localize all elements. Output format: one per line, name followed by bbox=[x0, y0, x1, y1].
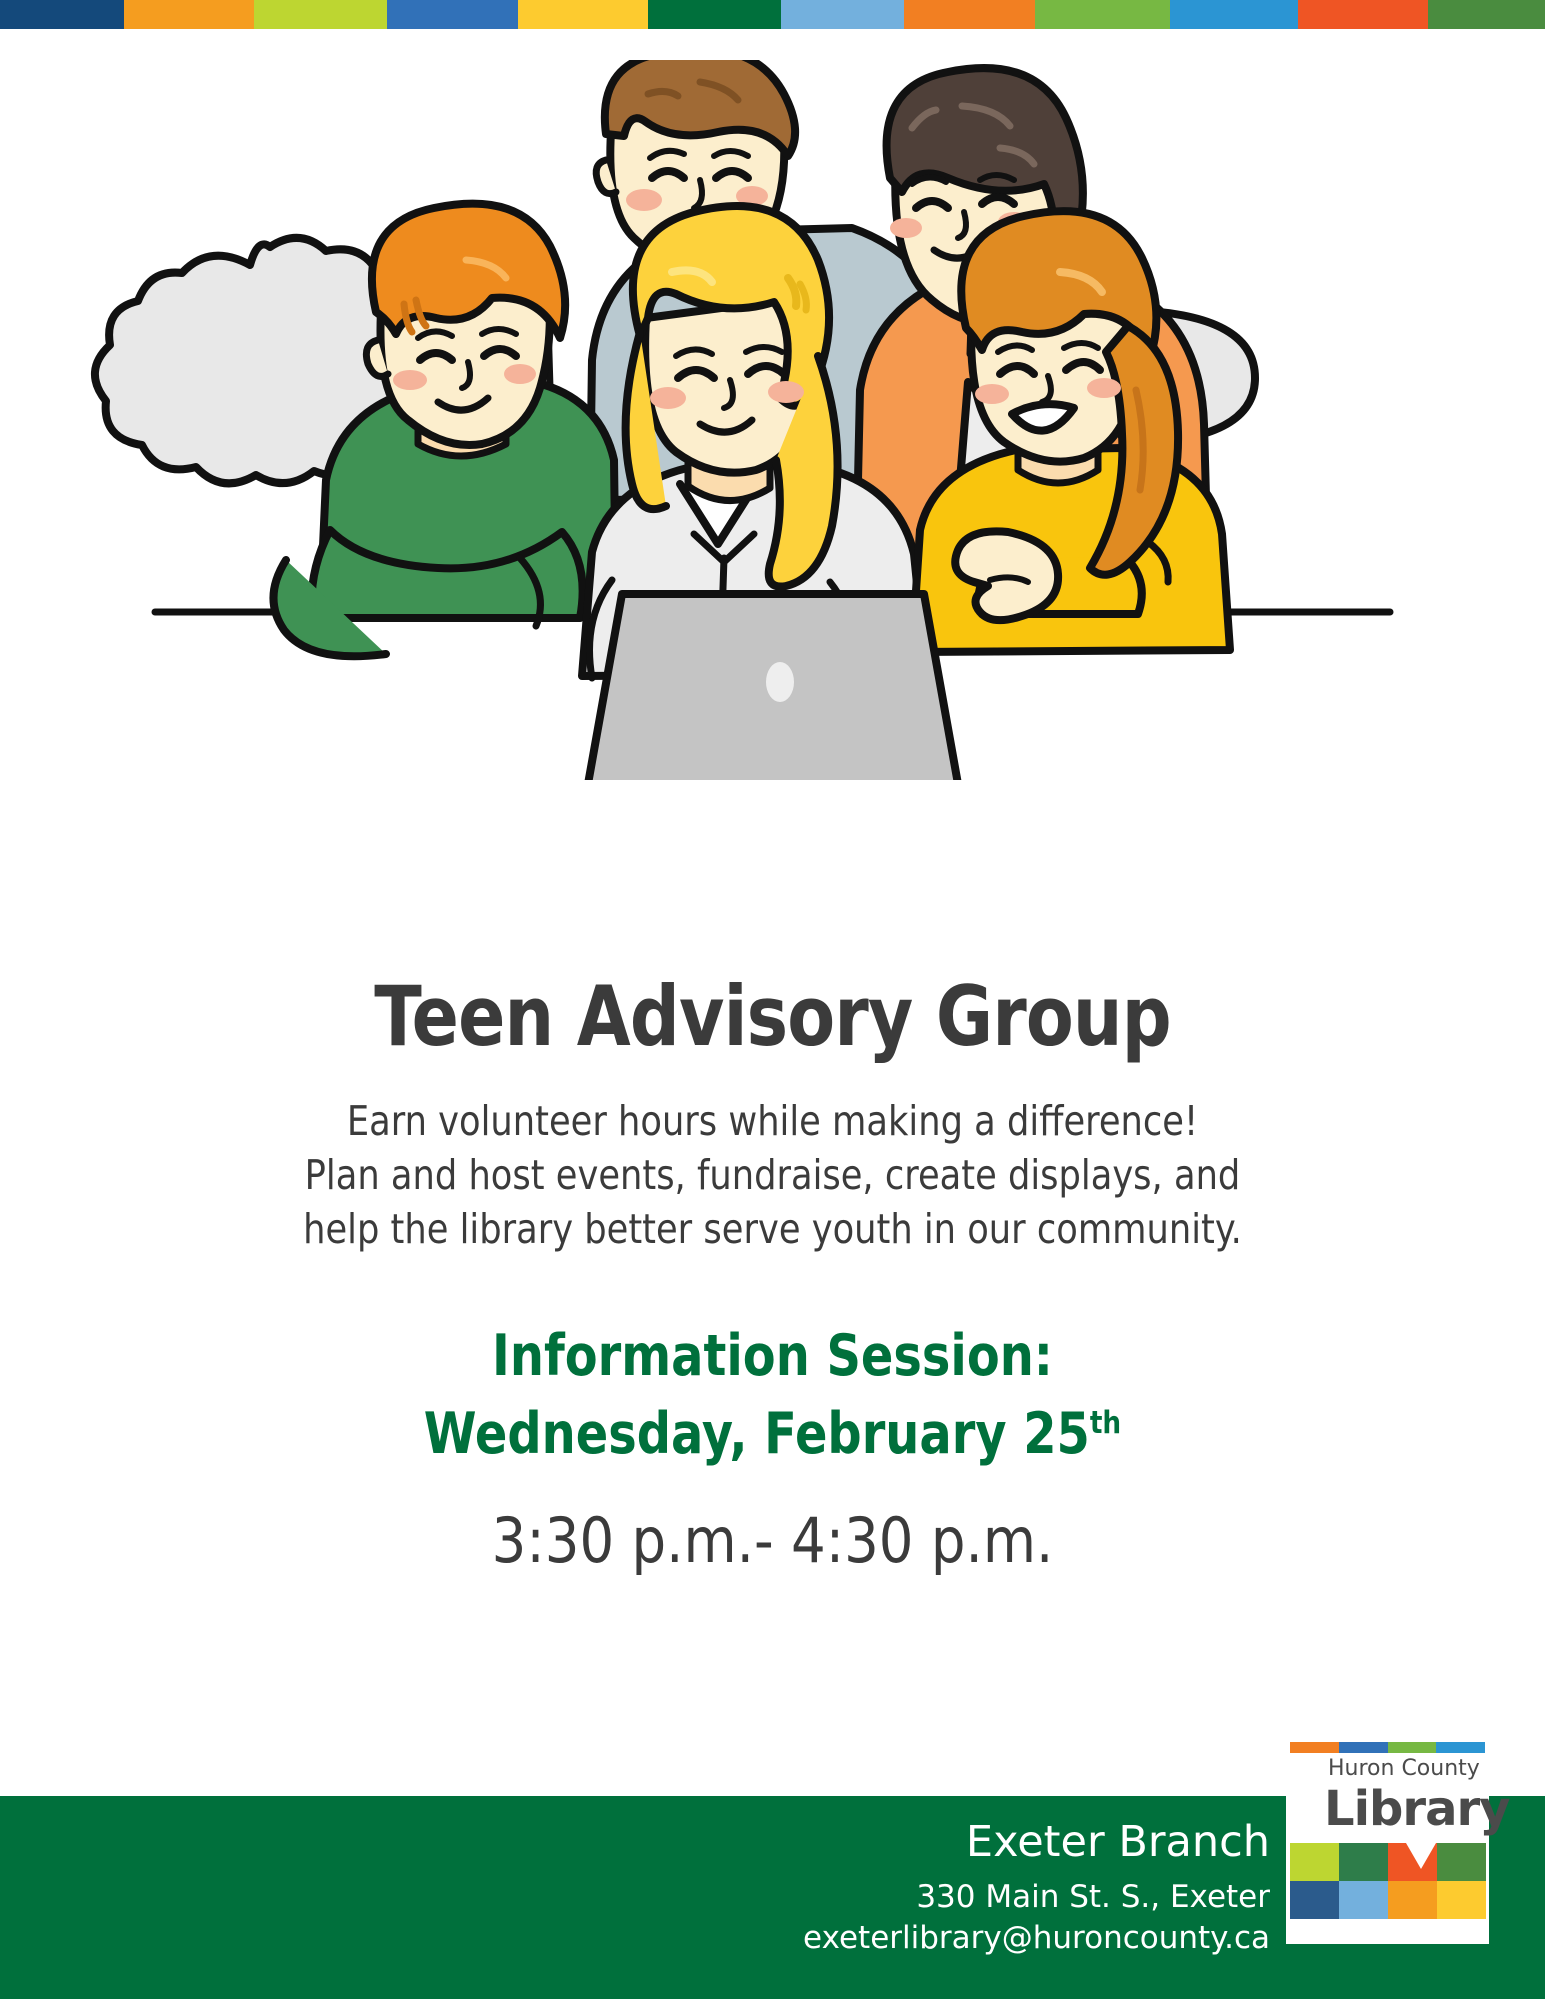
top-bar-segment-11 bbox=[1298, 0, 1428, 29]
top-bar-segment-1 bbox=[0, 0, 124, 29]
top-bar-segment-10 bbox=[1170, 0, 1298, 29]
logo-grid-cell-6 bbox=[1339, 1881, 1388, 1919]
logo-line-huron-county: Huron County bbox=[1328, 1756, 1480, 1781]
poster-text-block: Teen Advisory Group Earn volunteer hours… bbox=[0, 975, 1545, 1576]
logo-line-library: Library bbox=[1324, 1781, 1509, 1837]
page-title: Teen Advisory Group bbox=[124, 975, 1422, 1058]
top-bar-segment-6 bbox=[648, 0, 781, 29]
logo-color-grid bbox=[1290, 1843, 1486, 1919]
teens-around-laptop-illustration bbox=[0, 60, 1545, 780]
footer-email[interactable]: exeterlibrary@huroncounty.ca bbox=[803, 1918, 1270, 1958]
top-bar-segment-8 bbox=[904, 0, 1035, 29]
logo-grid-cell-8 bbox=[1437, 1881, 1486, 1919]
footer-contact-block: Exeter Branch 330 Main St. S., Exeter ex… bbox=[803, 1818, 1270, 1958]
logo-top-color-bar bbox=[1290, 1742, 1485, 1753]
logo-top-bar-segment-4 bbox=[1436, 1742, 1485, 1753]
top-bar-segment-12 bbox=[1428, 0, 1545, 29]
top-color-bar bbox=[0, 0, 1545, 29]
footer-address: 330 Main St. S., Exeter bbox=[803, 1877, 1270, 1917]
session-date-main: Wednesday, February 25 bbox=[424, 1401, 1090, 1467]
laptop-icon bbox=[588, 594, 958, 780]
logo-grid-cell-4 bbox=[1437, 1843, 1486, 1881]
logo-top-bar-segment-2 bbox=[1339, 1742, 1388, 1753]
logo-grid-cell-7 bbox=[1388, 1881, 1437, 1919]
huron-county-library-logo: Huron County Library bbox=[1286, 1742, 1489, 1944]
session-date-ordinal-suffix: th bbox=[1090, 1405, 1121, 1441]
logo-top-bar-segment-3 bbox=[1388, 1742, 1437, 1753]
footer-branch-name: Exeter Branch bbox=[803, 1818, 1270, 1867]
session-details: Information Session: Wednesday, February… bbox=[124, 1318, 1422, 1473]
poster-page: Teen Advisory Group Earn volunteer hours… bbox=[0, 0, 1545, 1999]
logo-grid-cell-1 bbox=[1290, 1843, 1339, 1881]
top-bar-segment-3 bbox=[254, 0, 387, 29]
session-heading: Information Session: bbox=[124, 1318, 1422, 1396]
session-time: 3:30 p.m.- 4:30 p.m. bbox=[93, 1507, 1453, 1575]
top-bar-segment-7 bbox=[781, 0, 904, 29]
description-paragraph: Earn volunteer hours while making a diff… bbox=[108, 1094, 1437, 1256]
top-bar-segment-4 bbox=[387, 0, 518, 29]
session-date: Wednesday, February 25th bbox=[124, 1396, 1422, 1474]
description-line-1: Earn volunteer hours while making a diff… bbox=[108, 1094, 1437, 1148]
description-line-2: Plan and host events, fundraise, create … bbox=[108, 1148, 1437, 1202]
logo-grid-cell-2 bbox=[1339, 1843, 1388, 1881]
top-bar-segment-9 bbox=[1035, 0, 1170, 29]
top-bar-segment-5 bbox=[518, 0, 648, 29]
logo-grid-cell-5 bbox=[1290, 1881, 1339, 1919]
description-line-3: help the library better serve youth in o… bbox=[108, 1202, 1437, 1256]
logo-top-bar-segment-1 bbox=[1290, 1742, 1339, 1753]
top-bar-segment-2 bbox=[124, 0, 254, 29]
